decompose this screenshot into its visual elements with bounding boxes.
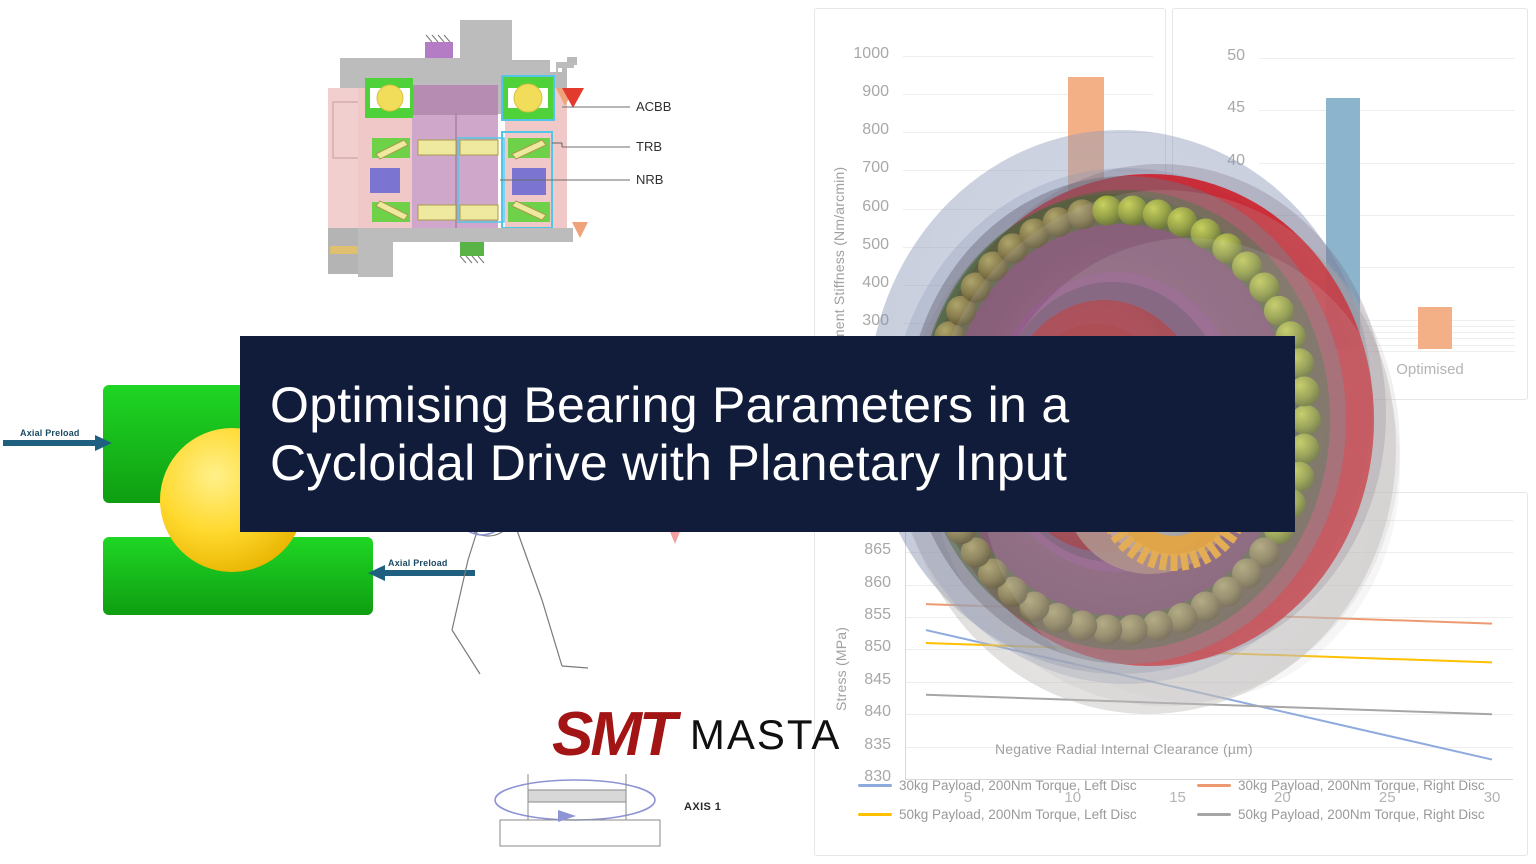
legend-item: 50kg Payload, 200Nm Torque, Left Disc [858, 807, 1179, 822]
stiffness-gridline [903, 56, 1153, 57]
legend-item: 30kg Payload, 200Nm Torque, Right Disc [1197, 778, 1518, 793]
slide-canvas: ACBB TRB NRB [0, 0, 1536, 864]
legend-label: 30kg Payload, 200Nm Torque, Right Disc [1238, 778, 1485, 793]
legend-swatch [1197, 784, 1231, 787]
label-acbb: ACBB [636, 99, 671, 114]
axis1-base [495, 774, 660, 846]
stiffness-gridline [903, 94, 1153, 95]
stress-chart-legend: 30kg Payload, 200Nm Torque, Left Disc30k… [858, 778, 1518, 822]
axial-preload-label-top: Axial Preload [20, 428, 80, 438]
legend-swatch [1197, 813, 1231, 816]
label-trb: TRB [636, 139, 662, 154]
logo-smt-text: SMT [552, 706, 674, 765]
bearing-cross-section-diagram: ACBB TRB NRB [300, 10, 700, 300]
axis1-label: AXIS 1 [684, 801, 721, 813]
te-gridline [1259, 58, 1515, 59]
legend-item: 30kg Payload, 200Nm Torque, Left Disc [858, 778, 1179, 793]
stiffness-ytick: 900 [829, 83, 889, 101]
legend-item: 50kg Payload, 200Nm Torque, Right Disc [1197, 807, 1518, 822]
label-nrb: NRB [636, 172, 663, 187]
legend-label: 30kg Payload, 200Nm Torque, Left Disc [899, 778, 1137, 793]
legend-swatch [858, 784, 892, 787]
slide-title-band: Optimising Bearing Parameters in a Cyclo… [240, 336, 1295, 532]
legend-swatch [858, 813, 892, 816]
stress-x-axis-title: Negative Radial Internal Clearance (µm) [995, 741, 1253, 757]
te-ytick: 50 [1197, 47, 1245, 65]
logo-masta-text: MASTA [690, 714, 842, 756]
te-bar-optimised [1418, 307, 1452, 349]
smt-masta-logo: SMT MASTA [552, 706, 841, 765]
title-line-1: Optimising Bearing Parameters in a [270, 376, 1265, 434]
bearing-section-svg: ACBB TRB NRB [300, 10, 700, 300]
title-line-2: Cycloidal Drive with Planetary Input [270, 434, 1265, 492]
legend-label: 50kg Payload, 200Nm Torque, Left Disc [899, 807, 1137, 822]
legend-label: 50kg Payload, 200Nm Torque, Right Disc [1238, 807, 1485, 822]
stiffness-ytick: 1000 [829, 45, 889, 63]
